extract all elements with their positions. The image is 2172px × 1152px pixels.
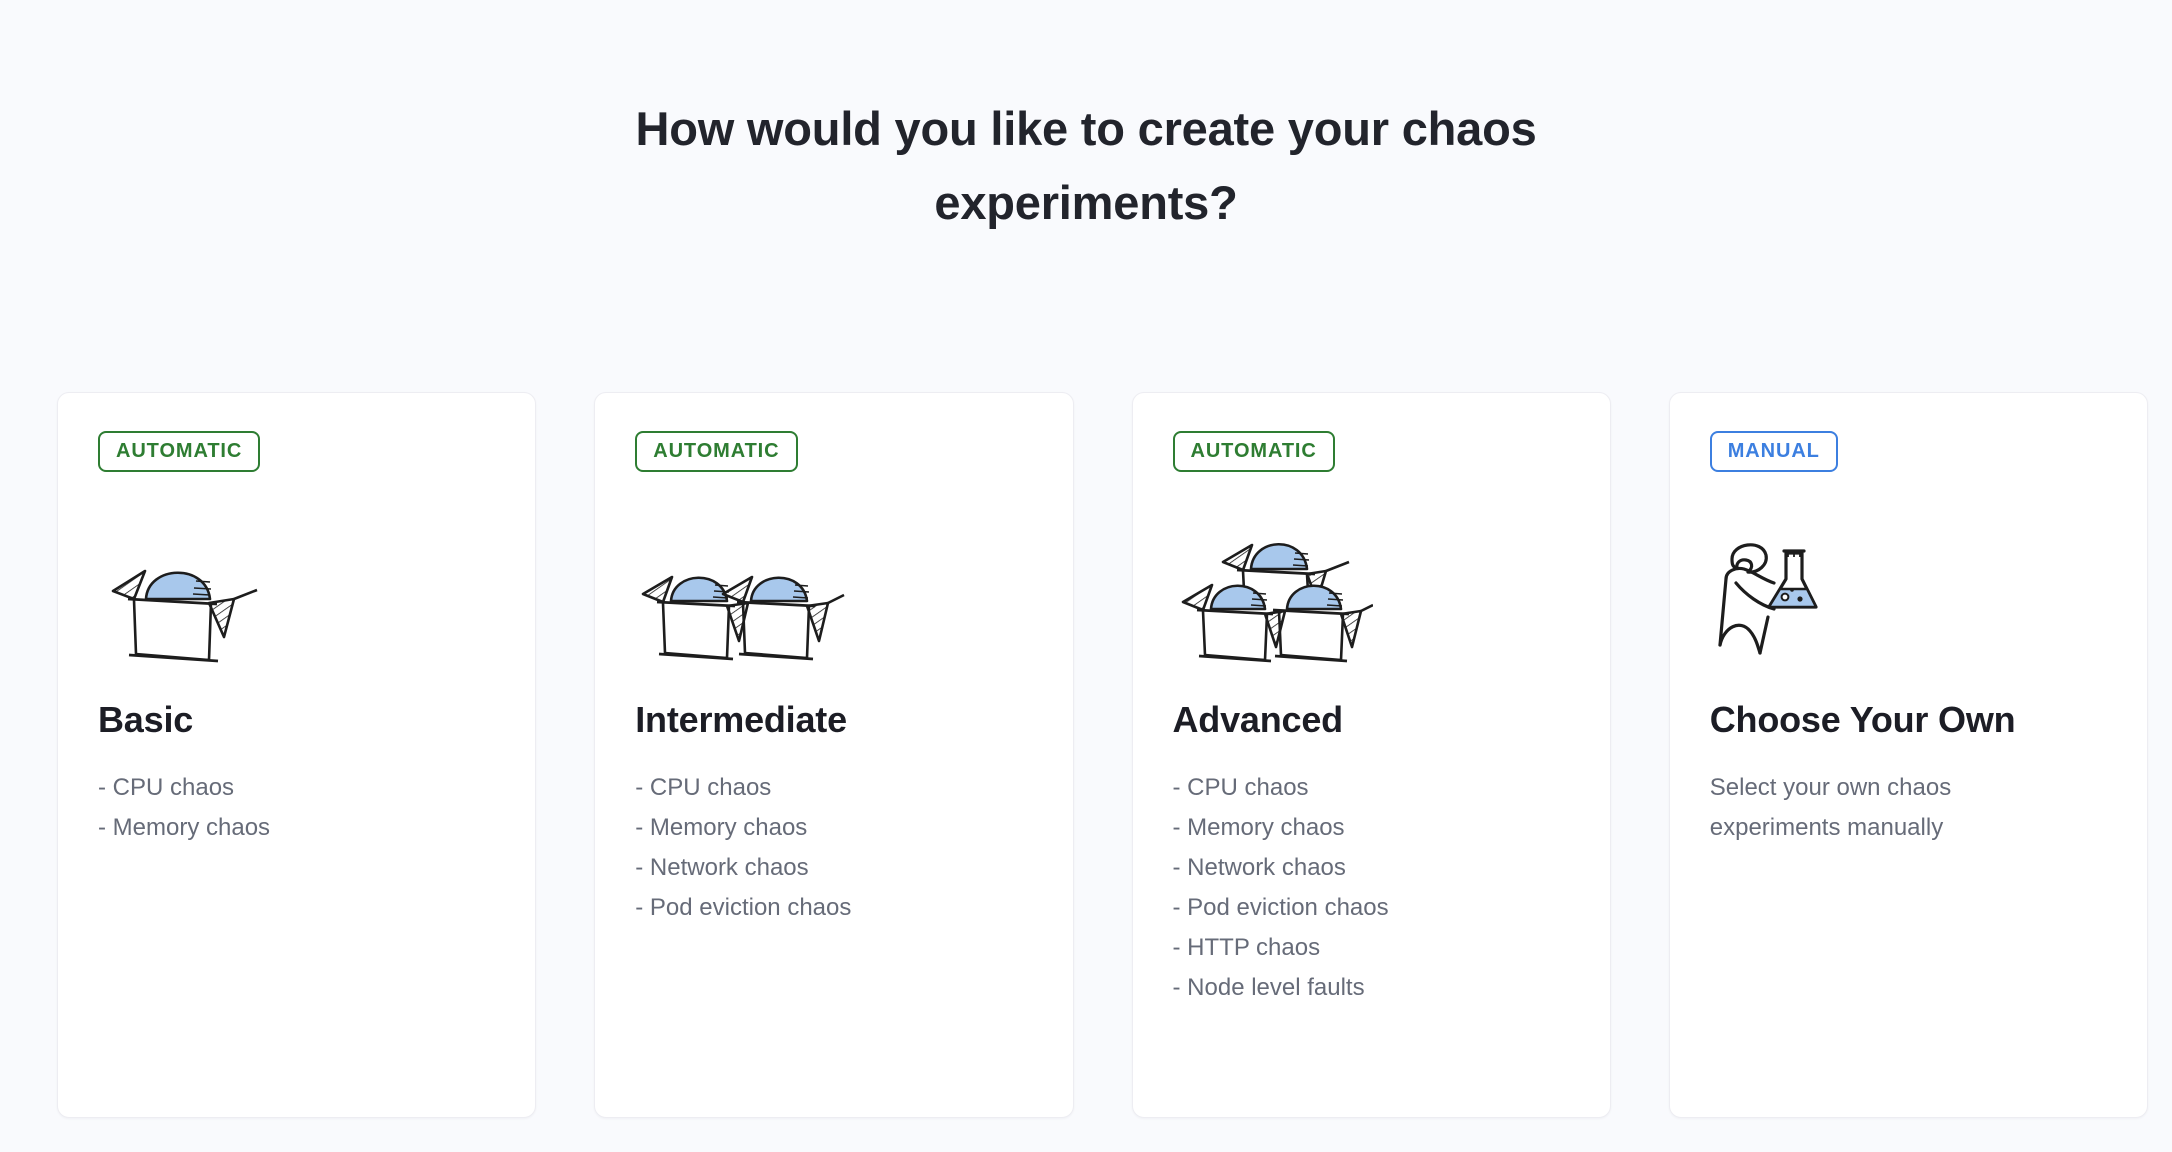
list-item: - Pod eviction chaos	[1173, 888, 1570, 928]
list-item: - HTTP chaos	[1173, 928, 1570, 968]
open-box-single-icon	[98, 512, 495, 682]
card-intermediate[interactable]: AUTOMATIC	[594, 392, 1073, 1118]
scientist-flask-icon	[1710, 512, 2107, 682]
card-advanced[interactable]: AUTOMATIC	[1132, 392, 1611, 1118]
open-box-triple-icon	[1173, 512, 1570, 682]
status-badge-manual: MANUAL	[1710, 431, 1838, 472]
list-item: - CPU chaos	[98, 768, 495, 808]
feature-list-intermediate: - CPU chaos - Memory chaos - Network cha…	[635, 768, 1032, 928]
card-title-basic: Basic	[98, 700, 495, 740]
card-title-choose-your-own: Choose Your Own	[1710, 700, 2107, 740]
list-item: - CPU chaos	[1173, 768, 1570, 808]
experiment-creation-page: How would you like to create your chaos …	[0, 0, 2172, 1152]
list-item: - Memory chaos	[1173, 808, 1570, 848]
list-item: - Pod eviction chaos	[635, 888, 1032, 928]
open-box-double-icon	[635, 512, 1032, 682]
card-choose-your-own[interactable]: MANUAL	[1669, 392, 2148, 1118]
list-item: - Network chaos	[635, 848, 1032, 888]
card-title-advanced: Advanced	[1173, 700, 1570, 740]
experiment-mode-card-grid: AUTOMATIC	[57, 392, 2148, 1118]
status-badge-automatic: AUTOMATIC	[98, 431, 260, 472]
card-title-intermediate: Intermediate	[635, 700, 1032, 740]
card-description: Select your own chaos experiments manual…	[1710, 768, 2010, 848]
status-badge-automatic: AUTOMATIC	[635, 431, 797, 472]
feature-list-advanced: - CPU chaos - Memory chaos - Network cha…	[1173, 768, 1570, 1008]
page-title: How would you like to create your chaos …	[586, 0, 1586, 240]
card-basic[interactable]: AUTOMATIC	[57, 392, 536, 1118]
list-item: - Network chaos	[1173, 848, 1570, 888]
list-item: - Memory chaos	[98, 808, 495, 848]
list-item: - Memory chaos	[635, 808, 1032, 848]
status-badge-automatic: AUTOMATIC	[1173, 431, 1335, 472]
feature-list-basic: - CPU chaos - Memory chaos	[98, 768, 495, 848]
list-item: - Node level faults	[1173, 968, 1570, 1008]
list-item: - CPU chaos	[635, 768, 1032, 808]
